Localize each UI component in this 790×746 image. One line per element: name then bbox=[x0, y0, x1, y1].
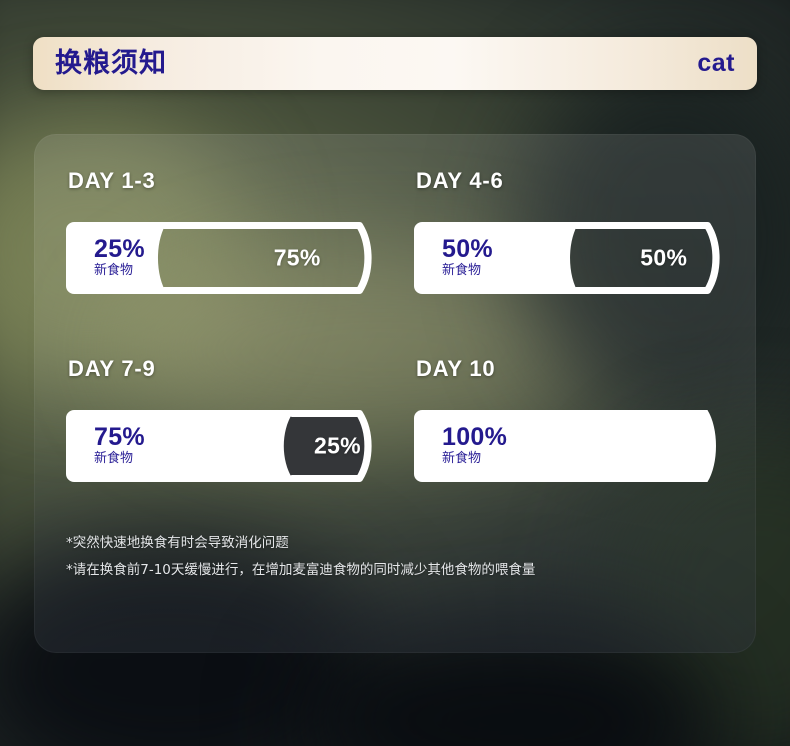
header-banner: 换粮须知 cat bbox=[33, 37, 757, 90]
ratio-bar-graphic bbox=[66, 400, 376, 492]
day-label: DAY 7-9 bbox=[68, 356, 376, 382]
content-panel: DAY 1-3 25% 新食物 75% DAY 4-6 bbox=[34, 134, 756, 653]
ratio-bar-day-7-9: 75% 新食物 25% bbox=[66, 400, 376, 492]
transition-schedule-grid: DAY 1-3 25% 新食物 75% DAY 4-6 bbox=[34, 134, 756, 492]
new-food-segment bbox=[66, 410, 295, 482]
footnote-list: *突然快速地换食有时会导致消化问题 *请在换食前7-10天缓慢进行，在增加麦富迪… bbox=[66, 534, 706, 587]
species-badge: cat bbox=[697, 51, 735, 76]
footnote-1: *突然快速地换食有时会导致消化问题 bbox=[66, 534, 706, 554]
day-label: DAY 1-3 bbox=[68, 168, 376, 194]
old-food-outline bbox=[164, 226, 368, 291]
new-food-segment bbox=[66, 222, 167, 294]
ratio-bar-day-10: 100% 新食物 bbox=[414, 400, 724, 492]
ratio-bar-graphic bbox=[414, 212, 724, 304]
day-label: DAY 4-6 bbox=[416, 168, 724, 194]
ratio-bar-day-1-3: 25% 新食物 75% bbox=[66, 212, 376, 304]
schedule-card-day-7-9: DAY 7-9 75% 新食物 25% bbox=[66, 356, 376, 492]
new-food-segment bbox=[414, 222, 579, 294]
ratio-bar-graphic bbox=[66, 212, 376, 304]
old-food-segment bbox=[284, 414, 368, 479]
day-label: DAY 10 bbox=[416, 356, 724, 382]
schedule-card-day-4-6: DAY 4-6 50% 新食物 50% bbox=[414, 168, 724, 304]
schedule-card-day-10: DAY 10 100% 新食物 bbox=[414, 356, 724, 492]
ratio-bar-day-4-6: 50% 新食物 50% bbox=[414, 212, 724, 304]
old-food-outline bbox=[576, 226, 716, 291]
schedule-card-day-1-3: DAY 1-3 25% 新食物 75% bbox=[66, 168, 376, 304]
new-food-segment bbox=[414, 410, 716, 482]
footnote-2: *请在换食前7-10天缓慢进行，在增加麦富迪食物的同时减少其他食物的喂食量 bbox=[66, 561, 706, 581]
page-title: 换粮须知 bbox=[55, 50, 167, 77]
ratio-bar-graphic bbox=[414, 400, 724, 492]
